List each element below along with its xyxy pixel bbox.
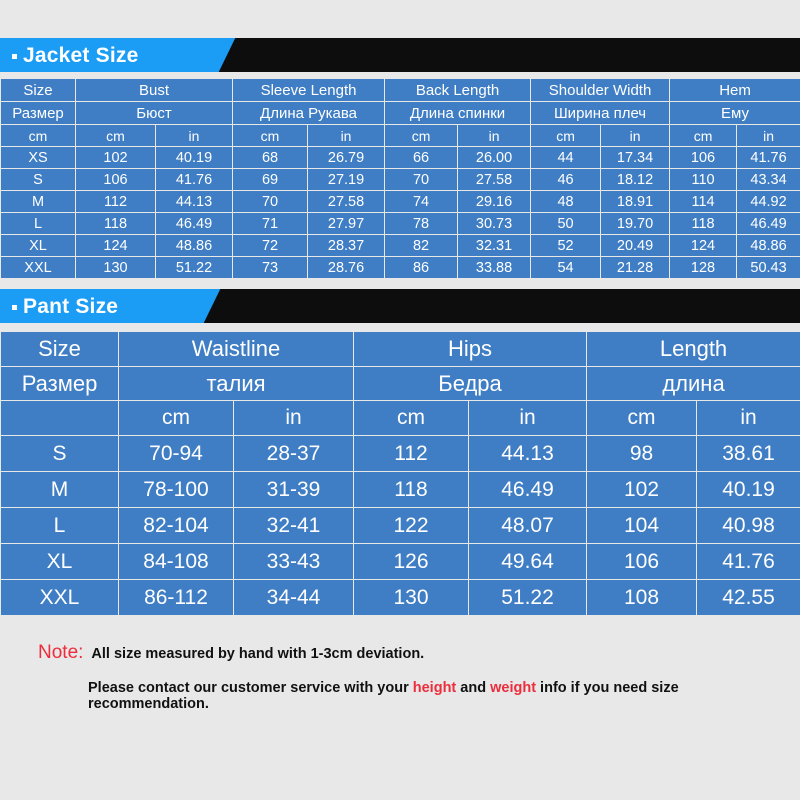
jacket-cell-back-in: 32.31	[458, 235, 531, 257]
pant-cell-hips-cm: 118	[354, 472, 469, 508]
jacket-cell-bust-cm: 112	[76, 191, 156, 213]
jacket-col-back-ru: Длина спинки	[385, 102, 531, 125]
jacket-cell-back-in: 27.58	[458, 169, 531, 191]
jacket-cell-shoulder-in: 21.28	[601, 257, 670, 279]
table-row: S 106 41.76 69 27.19 70 27.58 46 18.12 1…	[1, 169, 800, 191]
pant-cell-waist-in: 31-39	[234, 472, 354, 508]
pant-cell-size: M	[1, 472, 119, 508]
jacket-cell-back-in: 29.16	[458, 191, 531, 213]
pant-cell-waist-in: 33-43	[234, 544, 354, 580]
jacket-table-wrap: Size Bust Sleeve Length Back Length Shou…	[0, 78, 800, 279]
jacket-cell-bust-cm: 106	[76, 169, 156, 191]
jacket-banner-label: Jacket Size	[12, 38, 138, 72]
jacket-unit-bust-in: in	[156, 125, 233, 147]
table-row: XS 102 40.19 68 26.79 66 26.00 44 17.34 …	[1, 147, 800, 169]
note-block: Note: All size measured by hand with 1-3…	[0, 616, 800, 712]
jacket-cell-sleeve-in: 28.76	[308, 257, 385, 279]
pant-cell-waist-cm: 84-108	[119, 544, 234, 580]
jacket-col-back-en: Back Length	[385, 79, 531, 102]
jacket-cell-hem-in: 48.86	[737, 235, 800, 257]
jacket-cell-sleeve-cm: 71	[233, 213, 308, 235]
pant-cell-hips-in: 51.22	[469, 580, 587, 616]
jacket-unit-sleeve-in: in	[308, 125, 385, 147]
pant-unit-length-cm: cm	[587, 401, 697, 436]
jacket-cell-hem-cm: 106	[670, 147, 737, 169]
jacket-cell-back-cm: 74	[385, 191, 458, 213]
pant-cell-hips-in: 46.49	[469, 472, 587, 508]
table-row: M 78-100 31-39 118 46.49 102 40.19	[1, 472, 800, 508]
jacket-cell-shoulder-cm: 48	[531, 191, 601, 213]
pant-col-length-en: Length	[587, 332, 800, 367]
pant-cell-waist-in: 34-44	[234, 580, 354, 616]
note-text-part1: Please contact our customer service with…	[88, 680, 413, 696]
note-text-deviation: All size measured by hand with 1-3cm dev…	[91, 646, 424, 662]
jacket-cell-bust-cm: 102	[76, 147, 156, 169]
jacket-cell-back-cm: 86	[385, 257, 458, 279]
jacket-col-size-ru: Размер	[1, 102, 76, 125]
pant-cell-hips-in: 44.13	[469, 436, 587, 472]
jacket-col-shoulder-en: Shoulder Width	[531, 79, 670, 102]
jacket-cell-hem-in: 43.34	[737, 169, 800, 191]
pant-cell-waist-cm: 82-104	[119, 508, 234, 544]
note-line-1: Note: All size measured by hand with 1-3…	[0, 642, 800, 664]
jacket-unit-size: cm	[1, 125, 76, 147]
pant-col-hips-ru: Бедра	[354, 367, 587, 401]
pant-banner-label: Pant Size	[12, 289, 118, 323]
pant-header-row-ru: Размер талия Бедра длина	[1, 367, 800, 401]
pant-cell-length-in: 40.19	[697, 472, 800, 508]
top-spacer	[0, 0, 800, 38]
table-row: L 82-104 32-41 122 48.07 104 40.98	[1, 508, 800, 544]
pant-cell-size: XXL	[1, 580, 119, 616]
note-text-part2: and	[456, 680, 490, 696]
jacket-cell-hem-cm: 110	[670, 169, 737, 191]
table-row: XXL 130 51.22 73 28.76 86 33.88 54 21.28…	[1, 257, 800, 279]
pant-unit-waist-cm: cm	[119, 401, 234, 436]
pant-cell-waist-in: 28-37	[234, 436, 354, 472]
pant-col-size-en: Size	[1, 332, 119, 367]
pant-header-row-en: Size Waistline Hips Length	[1, 332, 800, 367]
jacket-cell-back-in: 33.88	[458, 257, 531, 279]
jacket-unit-bust-cm: cm	[76, 125, 156, 147]
pant-header-row-units: cm in cm in cm in	[1, 401, 800, 436]
pant-cell-waist-in: 32-41	[234, 508, 354, 544]
size-chart-page: Jacket Size Size Bust Sleeve Length Back…	[0, 0, 800, 800]
jacket-cell-hem-in: 41.76	[737, 147, 800, 169]
jacket-cell-sleeve-in: 27.58	[308, 191, 385, 213]
jacket-unit-hem-in: in	[737, 125, 800, 147]
table-row: M 112 44.13 70 27.58 74 29.16 48 18.91 1…	[1, 191, 800, 213]
jacket-cell-shoulder-cm: 54	[531, 257, 601, 279]
table-row: XL 84-108 33-43 126 49.64 106 41.76	[1, 544, 800, 580]
jacket-cell-back-cm: 70	[385, 169, 458, 191]
jacket-cell-bust-in: 41.76	[156, 169, 233, 191]
note-label: Note:	[38, 642, 83, 664]
jacket-col-bust-en: Bust	[76, 79, 233, 102]
jacket-unit-hem-cm: cm	[670, 125, 737, 147]
jacket-cell-shoulder-in: 18.12	[601, 169, 670, 191]
square-bullet-icon	[12, 305, 17, 310]
jacket-unit-shoulder-in: in	[601, 125, 670, 147]
pant-cell-length-in: 41.76	[697, 544, 800, 580]
jacket-cell-bust-in: 40.19	[156, 147, 233, 169]
jacket-cell-hem-in: 50.43	[737, 257, 800, 279]
jacket-cell-hem-cm: 124	[670, 235, 737, 257]
jacket-cell-shoulder-cm: 46	[531, 169, 601, 191]
jacket-cell-back-cm: 82	[385, 235, 458, 257]
note-text-height: height	[413, 680, 457, 696]
jacket-cell-hem-cm: 128	[670, 257, 737, 279]
jacket-cell-back-cm: 78	[385, 213, 458, 235]
jacket-cell-sleeve-cm: 70	[233, 191, 308, 213]
jacket-cell-shoulder-cm: 44	[531, 147, 601, 169]
jacket-col-hem-ru: Ему	[670, 102, 800, 125]
pant-cell-hips-cm: 126	[354, 544, 469, 580]
pant-cell-size: S	[1, 436, 119, 472]
pant-cell-waist-cm: 86-112	[119, 580, 234, 616]
jacket-cell-size: XS	[1, 147, 76, 169]
jacket-cell-hem-in: 46.49	[737, 213, 800, 235]
jacket-cell-size: S	[1, 169, 76, 191]
jacket-cell-sleeve-cm: 68	[233, 147, 308, 169]
pant-cell-length-cm: 106	[587, 544, 697, 580]
pant-unit-hips-cm: cm	[354, 401, 469, 436]
jacket-cell-shoulder-in: 19.70	[601, 213, 670, 235]
pant-cell-hips-cm: 112	[354, 436, 469, 472]
jacket-header-row-en: Size Bust Sleeve Length Back Length Shou…	[1, 79, 800, 102]
jacket-cell-bust-cm: 124	[76, 235, 156, 257]
jacket-col-shoulder-ru: Ширина плеч	[531, 102, 670, 125]
pant-cell-size: XL	[1, 544, 119, 580]
jacket-col-sleeve-en: Sleeve Length	[233, 79, 385, 102]
table-row: L 118 46.49 71 27.97 78 30.73 50 19.70 1…	[1, 213, 800, 235]
pant-cell-length-cm: 108	[587, 580, 697, 616]
pant-col-hips-en: Hips	[354, 332, 587, 367]
jacket-cell-sleeve-in: 26.79	[308, 147, 385, 169]
pant-size-table: Size Waistline Hips Length Размер талия …	[0, 331, 800, 616]
square-bullet-icon	[12, 54, 17, 59]
table-row: S 70-94 28-37 112 44.13 98 38.61	[1, 436, 800, 472]
pant-col-waistline-ru: талия	[119, 367, 354, 401]
jacket-cell-back-in: 30.73	[458, 213, 531, 235]
jacket-cell-shoulder-in: 18.91	[601, 191, 670, 213]
jacket-col-size-en: Size	[1, 79, 76, 102]
jacket-cell-bust-cm: 118	[76, 213, 156, 235]
jacket-size-table: Size Bust Sleeve Length Back Length Shou…	[0, 78, 800, 279]
jacket-cell-size: L	[1, 213, 76, 235]
pant-unit-waist-in: in	[234, 401, 354, 436]
jacket-header-row-units: cm cm in cm in cm in cm in cm in	[1, 125, 800, 147]
pant-unit-hips-in: in	[469, 401, 587, 436]
jacket-cell-shoulder-cm: 52	[531, 235, 601, 257]
jacket-unit-sleeve-cm: cm	[233, 125, 308, 147]
pant-cell-length-cm: 104	[587, 508, 697, 544]
pant-size-banner: Pant Size	[0, 289, 800, 323]
jacket-cell-sleeve-in: 28.37	[308, 235, 385, 257]
jacket-cell-hem-cm: 118	[670, 213, 737, 235]
jacket-cell-size: XXL	[1, 257, 76, 279]
note-line-2: Please contact our customer service with…	[0, 680, 800, 712]
pant-cell-length-in: 40.98	[697, 508, 800, 544]
jacket-cell-shoulder-in: 17.34	[601, 147, 670, 169]
pant-cell-length-cm: 98	[587, 436, 697, 472]
pant-cell-waist-cm: 78-100	[119, 472, 234, 508]
pant-cell-hips-cm: 122	[354, 508, 469, 544]
jacket-cell-back-cm: 66	[385, 147, 458, 169]
jacket-unit-back-cm: cm	[385, 125, 458, 147]
pant-unit-size-empty	[1, 401, 119, 436]
jacket-cell-bust-in: 44.13	[156, 191, 233, 213]
jacket-col-hem-en: Hem	[670, 79, 800, 102]
jacket-cell-hem-in: 44.92	[737, 191, 800, 213]
jacket-cell-shoulder-cm: 50	[531, 213, 601, 235]
jacket-header-row-ru: Размер Бюст Длина Рукава Длина спинки Ши…	[1, 102, 800, 125]
pant-cell-hips-in: 48.07	[469, 508, 587, 544]
pant-col-waistline-en: Waistline	[119, 332, 354, 367]
pant-cell-length-cm: 102	[587, 472, 697, 508]
pant-cell-length-in: 42.55	[697, 580, 800, 616]
jacket-col-bust-ru: Бюст	[76, 102, 233, 125]
note-text-weight: weight	[490, 680, 536, 696]
jacket-cell-hem-cm: 114	[670, 191, 737, 213]
jacket-col-sleeve-ru: Длина Рукава	[233, 102, 385, 125]
jacket-cell-sleeve-cm: 73	[233, 257, 308, 279]
pant-banner-title: Pant Size	[23, 296, 118, 317]
jacket-cell-bust-in: 48.86	[156, 235, 233, 257]
pant-cell-hips-in: 49.64	[469, 544, 587, 580]
pant-cell-size: L	[1, 508, 119, 544]
jacket-cell-sleeve-cm: 69	[233, 169, 308, 191]
pant-col-length-ru: длина	[587, 367, 800, 401]
pant-cell-hips-cm: 130	[354, 580, 469, 616]
pant-banner-spacer	[0, 323, 800, 331]
pant-col-size-ru: Размер	[1, 367, 119, 401]
pant-cell-waist-cm: 70-94	[119, 436, 234, 472]
jacket-cell-bust-in: 46.49	[156, 213, 233, 235]
pant-unit-length-in: in	[697, 401, 800, 436]
jacket-unit-shoulder-cm: cm	[531, 125, 601, 147]
jacket-cell-back-in: 26.00	[458, 147, 531, 169]
jacket-cell-size: XL	[1, 235, 76, 257]
jacket-size-banner: Jacket Size	[0, 38, 800, 72]
table-row: XL 124 48.86 72 28.37 82 32.31 52 20.49 …	[1, 235, 800, 257]
pant-cell-length-in: 38.61	[697, 436, 800, 472]
jacket-cell-bust-in: 51.22	[156, 257, 233, 279]
jacket-cell-size: M	[1, 191, 76, 213]
jacket-banner-title: Jacket Size	[23, 45, 138, 66]
section-spacer	[0, 279, 800, 289]
jacket-cell-sleeve-in: 27.97	[308, 213, 385, 235]
table-row: XXL 86-112 34-44 130 51.22 108 42.55	[1, 580, 800, 616]
jacket-cell-bust-cm: 130	[76, 257, 156, 279]
jacket-cell-sleeve-in: 27.19	[308, 169, 385, 191]
jacket-cell-shoulder-in: 20.49	[601, 235, 670, 257]
jacket-cell-sleeve-cm: 72	[233, 235, 308, 257]
jacket-unit-back-in: in	[458, 125, 531, 147]
